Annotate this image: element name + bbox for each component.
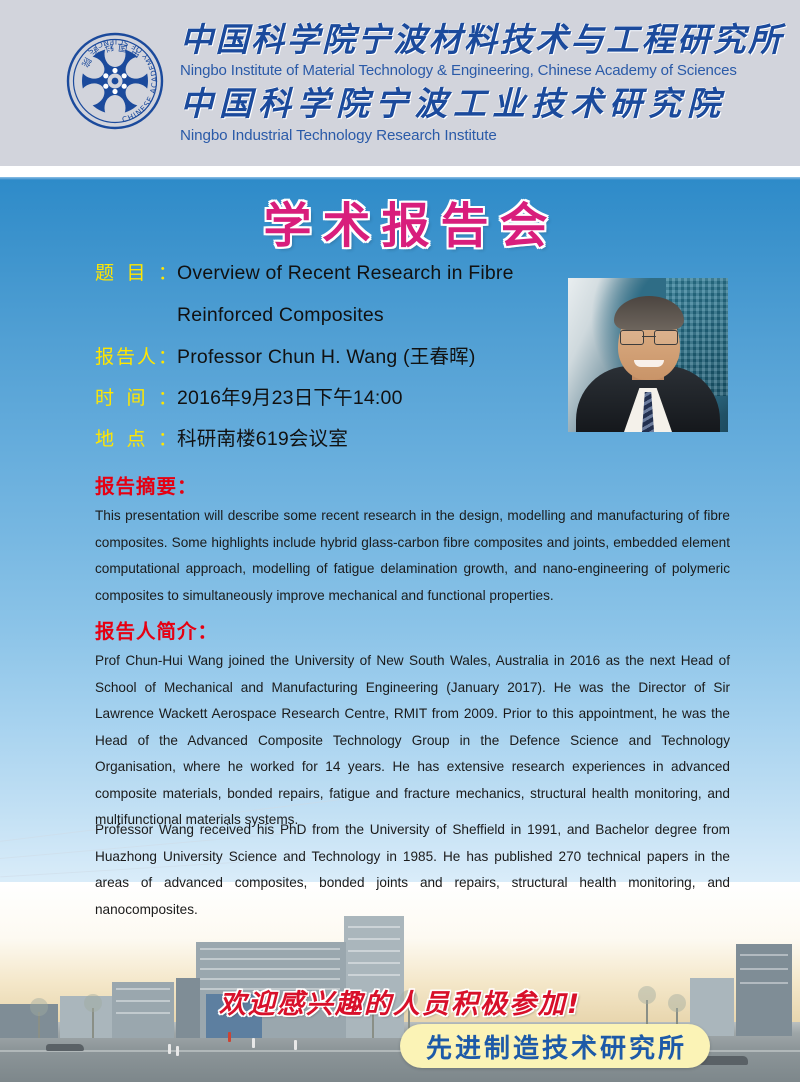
abstract-heading: 报告摘要：: [95, 470, 198, 499]
info-label-char: 点: [126, 424, 145, 454]
info-label-char: 人: [137, 342, 156, 372]
info-label-char: 目: [126, 258, 145, 288]
info-label-colon: ：: [158, 424, 177, 454]
info-label-char: 地: [95, 424, 114, 454]
cas-logo-icon: CHINESE ACADEMY OF SCIENCES 中国科学院: [62, 28, 168, 134]
organizer-badge: 先进制造技术研究所: [400, 1024, 710, 1068]
biography-heading: 报告人简介：: [95, 615, 218, 644]
info-label-venue: 地 点 ：: [95, 424, 177, 454]
info-label-speaker: 报 告 人 ：: [95, 342, 177, 372]
info-value-topic-line1: Overview of Recent Research in Fibre: [177, 262, 514, 284]
institute-name-cn-2: 中国科学院宁波工业技术研究院: [180, 86, 770, 123]
biography-body-2: Professor Wang received his PhD from the…: [95, 817, 730, 923]
info-label-char: 时: [95, 383, 114, 413]
header-separator-gap: [0, 166, 800, 177]
info-label-colon: ：: [158, 258, 177, 288]
abstract-paragraph: This presentation will describe some rec…: [95, 503, 730, 609]
info-label-colon: ：: [158, 383, 177, 413]
speaker-photo: [568, 278, 728, 432]
biography-paragraph-2: Professor Wang received his PhD from the…: [95, 817, 730, 923]
info-label-char: 报: [95, 342, 114, 372]
info-value-time: 2016年9月23日下午14:00: [177, 383, 403, 413]
info-value-speaker: Professor Chun H. Wang (王春晖): [177, 342, 476, 372]
info-label-char: 告: [116, 342, 135, 372]
info-label-char: 间: [126, 383, 145, 413]
institute-header: CHINESE ACADEMY OF SCIENCES 中国科学院 中国科学院宁…: [0, 0, 800, 166]
institute-name-cn-1: 中国科学院宁波材料技术与工程研究所: [180, 22, 770, 59]
institute-name-en-2: Ningbo Industrial Technology Research In…: [180, 127, 770, 144]
institute-name-en-1: Ningbo Institute of Material Technology …: [180, 61, 764, 80]
info-label-colon: ：: [158, 342, 177, 372]
info-label-char: 题: [95, 258, 114, 288]
abstract-body: This presentation will describe some rec…: [95, 503, 730, 609]
welcome-message: 欢迎感兴趣的人员积极参加!: [0, 982, 800, 1021]
info-value-topic-line2: Reinforced Composites: [177, 300, 514, 330]
poster-root: CHINESE ACADEMY OF SCIENCES 中国科学院 中国科学院宁…: [0, 0, 800, 1082]
organizer-badge-label: 先进制造技术研究所: [423, 1028, 687, 1065]
info-label-time: 时 间 ：: [95, 383, 177, 413]
header-divider-rule: [0, 177, 800, 180]
institute-name-block: 中国科学院宁波材料技术与工程研究所 Ningbo Institute of Ma…: [180, 22, 770, 144]
page-title: 学术报告会: [0, 186, 800, 256]
biography-body-1: Prof Chun-Hui Wang joined the University…: [95, 648, 730, 834]
info-label-topic: 题 目 ：: [95, 258, 177, 288]
info-value-topic: Overview of Recent Research in Fibre Rei…: [177, 258, 514, 330]
info-value-venue: 科研南楼619会议室: [177, 424, 348, 454]
biography-paragraph-1: Prof Chun-Hui Wang joined the University…: [95, 648, 730, 834]
